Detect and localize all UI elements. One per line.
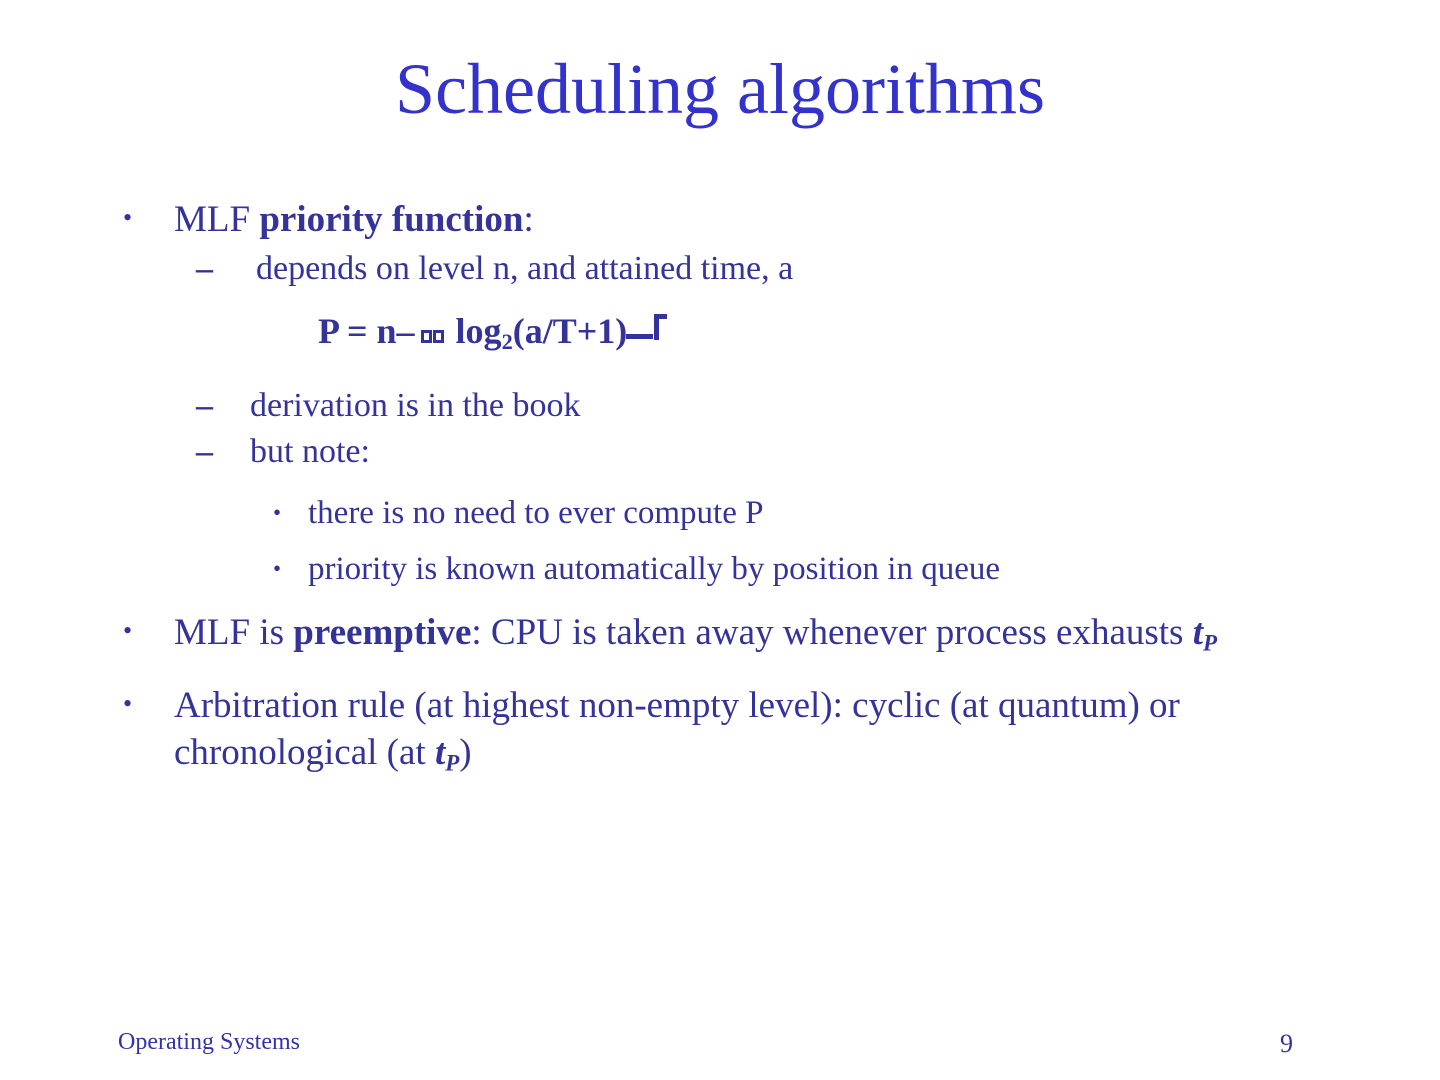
missing-glyph-box-icon xyxy=(421,330,445,343)
segment-text: MLF is xyxy=(174,612,293,653)
bullet-depends-on-level: – depends on level n, and attained time,… xyxy=(118,247,1358,291)
bullet-text: MLF is preemptive: CPU is taken away whe… xyxy=(174,612,1217,653)
formula-log: log xyxy=(447,311,502,351)
footer-course-name: Operating Systems xyxy=(118,1028,300,1057)
priority-formula: P = n– log2(a/T+1) xyxy=(118,308,1358,356)
bullet-marker-round-icon: • xyxy=(123,682,132,727)
bullet-marker-dash-icon: – xyxy=(196,384,213,428)
bullet-marker-round-icon: • xyxy=(273,548,281,590)
bullet-no-need-compute-p: • there is no need to ever compute P xyxy=(118,492,1358,536)
segment-text: ) xyxy=(459,732,471,773)
bullet-arbitration-rule: • Arbitration rule (at highest non-empty… xyxy=(118,682,1358,778)
bullet-mlf-priority-function: • MLF priority function: xyxy=(118,196,1358,243)
slide-canvas: Scheduling algorithms • MLF priority fun… xyxy=(0,0,1440,1080)
bullet-but-note: – but note: xyxy=(118,430,1358,474)
page-title: Scheduling algorithms xyxy=(60,52,1380,128)
segment-variable-t-subscript: P xyxy=(1203,631,1217,656)
bullet-text: Arbitration rule (at highest non-empty l… xyxy=(174,685,1180,773)
bullet-text: depends on level n, and attained time, a xyxy=(256,250,793,287)
segment-text: Arbitration rule (at highest non-empty l… xyxy=(174,685,1180,773)
bullet-marker-round-icon: • xyxy=(123,609,132,654)
formula-arg: (a/T+1) xyxy=(513,311,628,351)
bullet-derivation-in-book: – derivation is in the book xyxy=(118,384,1358,428)
segment-text: MLF xyxy=(174,199,259,240)
bullet-text: derivation is in the book xyxy=(250,387,581,424)
bullet-marker-round-icon: • xyxy=(273,492,281,534)
bullet-mlf-is-preemptive: • MLF is preemptive: CPU is taken away w… xyxy=(118,609,1358,658)
formula-lhs: P = n– xyxy=(318,311,415,351)
segment-variable-t-subscript: P xyxy=(445,751,459,776)
bullet-text: there is no need to ever compute P xyxy=(308,495,763,531)
bullet-text: priority is known automatically by posit… xyxy=(308,551,1000,587)
bullet-text: but note: xyxy=(250,433,370,470)
segment-bold: priority function xyxy=(259,199,523,240)
footer-page-number: 9 xyxy=(1280,1028,1340,1059)
segment-variable-t: t xyxy=(1193,612,1203,653)
segment-bold: preemptive xyxy=(293,612,471,653)
missing-glyph-tail-icon xyxy=(626,332,670,342)
segment-text: : xyxy=(523,199,533,240)
formula-log-base: 2 xyxy=(502,329,513,354)
segment-text: : CPU is taken away whenever process exh… xyxy=(471,612,1192,653)
slide-body: • MLF priority function: – depends on le… xyxy=(118,196,1358,782)
bullet-marker-round-icon: • xyxy=(123,196,132,241)
bullet-text: MLF priority function: xyxy=(174,199,534,240)
bullet-priority-known-by-position: • priority is known automatically by pos… xyxy=(118,548,1358,592)
bullet-marker-dash-icon: – xyxy=(196,247,213,291)
bullet-marker-dash-icon: – xyxy=(196,430,213,474)
segment-variable-t: t xyxy=(435,732,445,773)
